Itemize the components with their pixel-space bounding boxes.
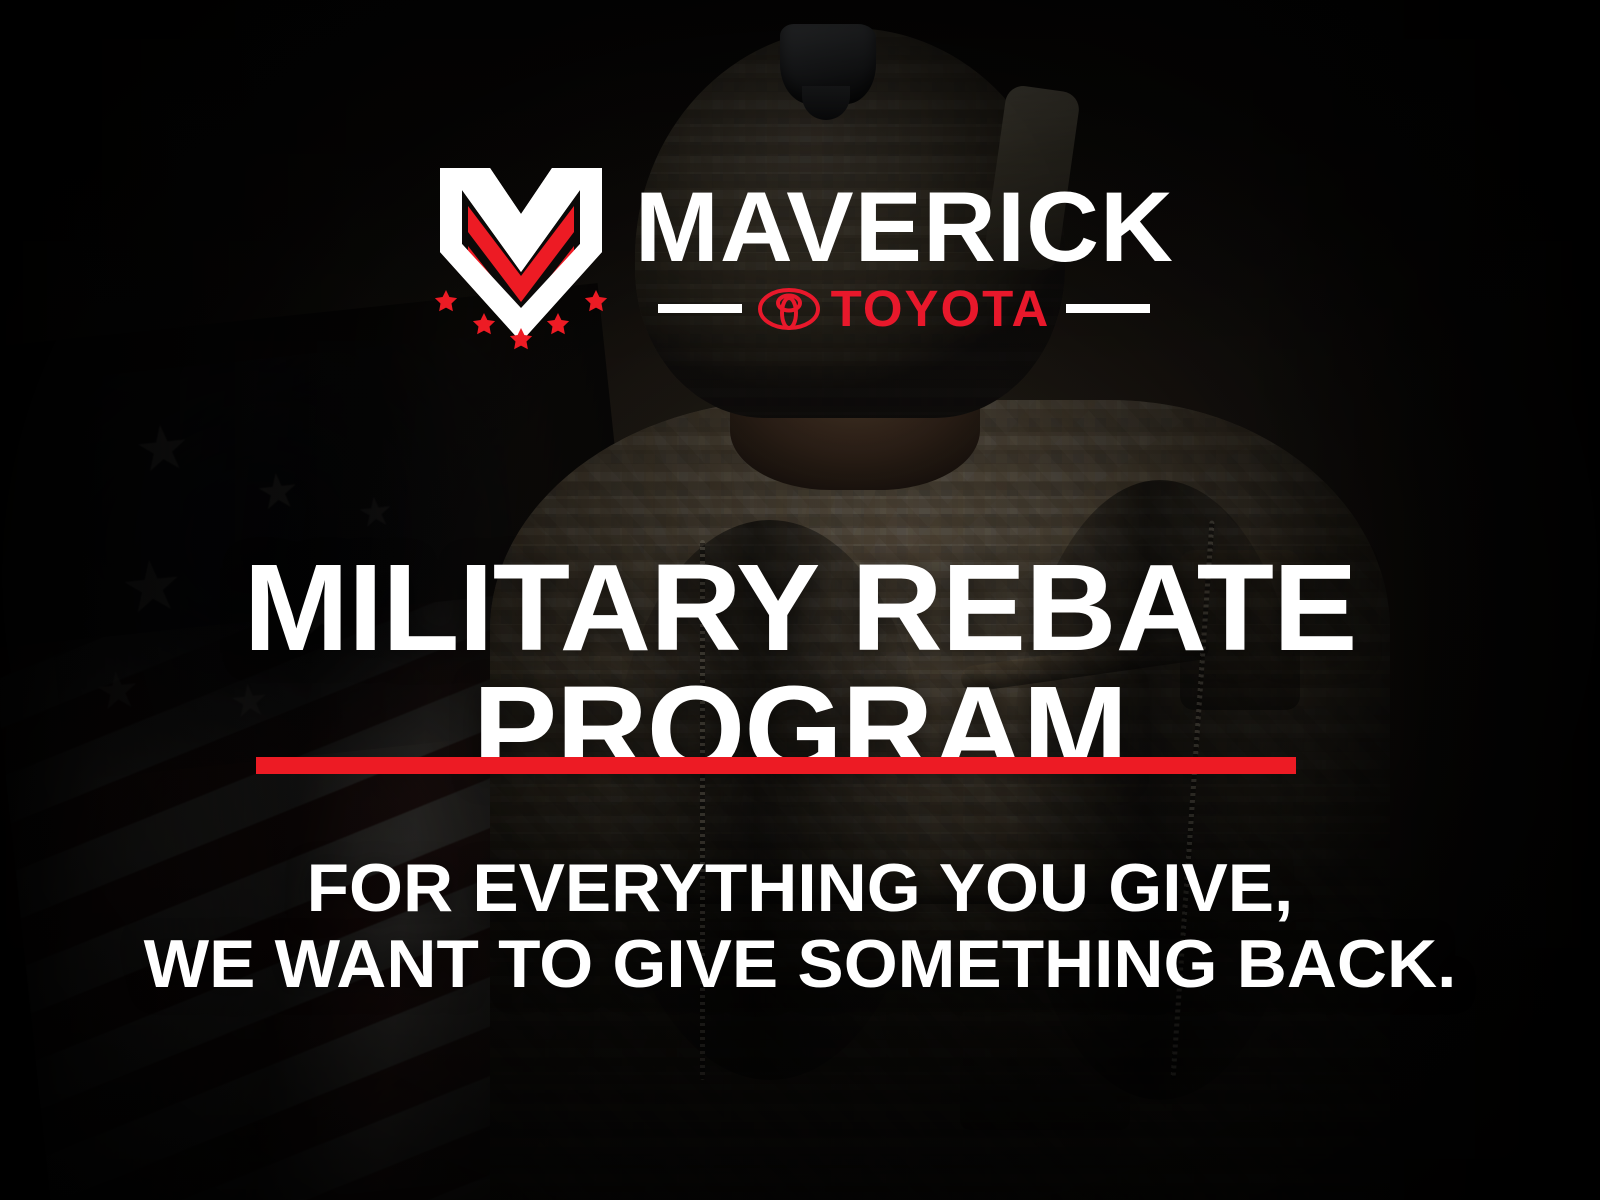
maverick-toyota-logo-lockup[interactable]: MAVERICK TOYOTA [0,160,1600,350]
tagline-line-1: FOR EVERYTHING YOU GIVE, [0,850,1600,926]
red-divider-rule [256,757,1296,774]
maverick-chevron-emblem [432,160,610,350]
toyota-oval-logo [758,288,820,330]
brand-rule-right [1066,304,1150,313]
military-rebate-banner: MAVERICK TOYOTA MILITARY [0,0,1600,1200]
maverick-wordmark: MAVERICK [634,180,1173,273]
tagline-line-2: WE WANT TO GIVE SOMETHING BACK. [0,926,1600,1002]
toyota-wordmark: TOYOTA [831,283,1051,334]
toyota-brand-mark: TOYOTA [758,283,1051,334]
brand-rule-left [658,304,742,313]
tagline: FOR EVERYTHING YOU GIVE, WE WANT TO GIVE… [0,850,1600,1002]
banner-content: MAVERICK TOYOTA MILITARY [0,0,1600,1200]
page-title: MILITARY REBATE PROGRAM [0,548,1600,792]
wordmark-block: MAVERICK TOYOTA [640,176,1169,334]
toyota-brand-row: TOYOTA [640,283,1169,334]
headline-line-1: MILITARY REBATE [0,548,1600,670]
